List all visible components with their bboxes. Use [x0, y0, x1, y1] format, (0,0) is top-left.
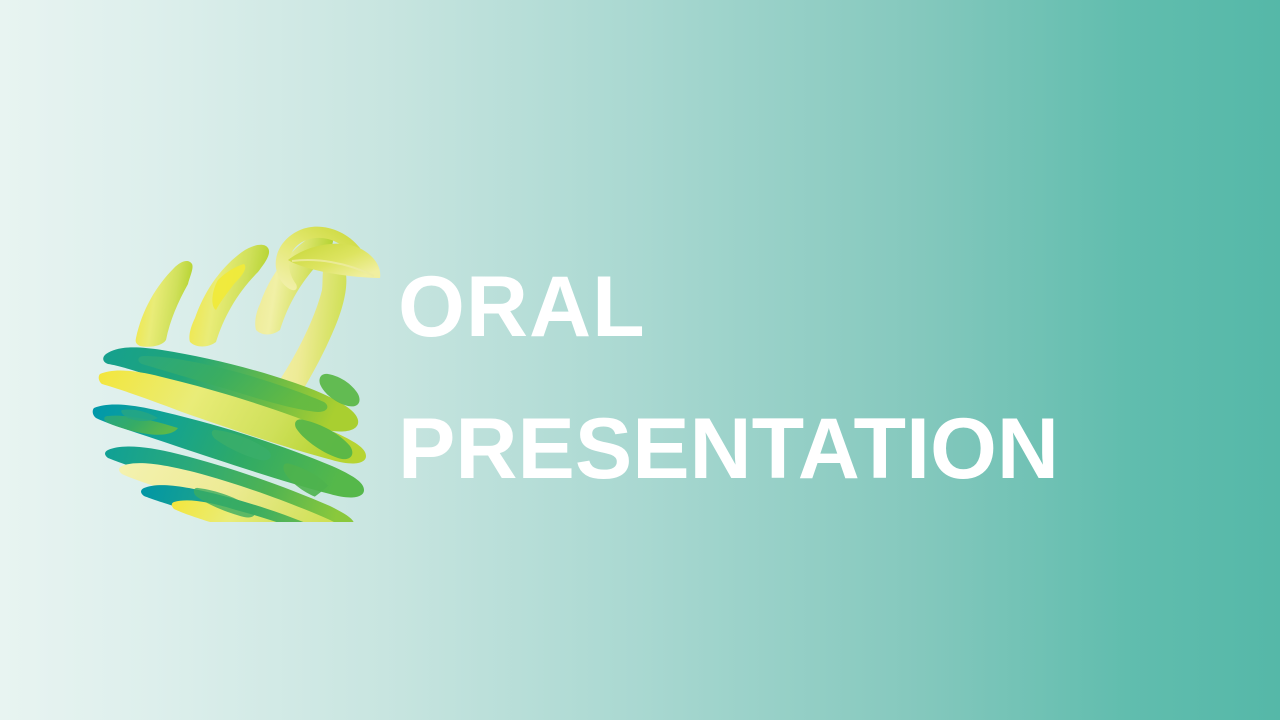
page-title-line-1: ORAL	[398, 236, 1218, 378]
page-title-line-2: PRESENTATION	[398, 378, 1218, 520]
slide-title-block: ORAL PRESENTATION	[398, 236, 1218, 520]
presentation-slide: ORAL PRESENTATION	[0, 0, 1280, 720]
ribbon-band-2	[189, 245, 269, 347]
logo-svg	[92, 206, 384, 522]
ribbon-band-1	[136, 261, 193, 347]
globe-ribbon-leaf-logo	[92, 206, 384, 522]
